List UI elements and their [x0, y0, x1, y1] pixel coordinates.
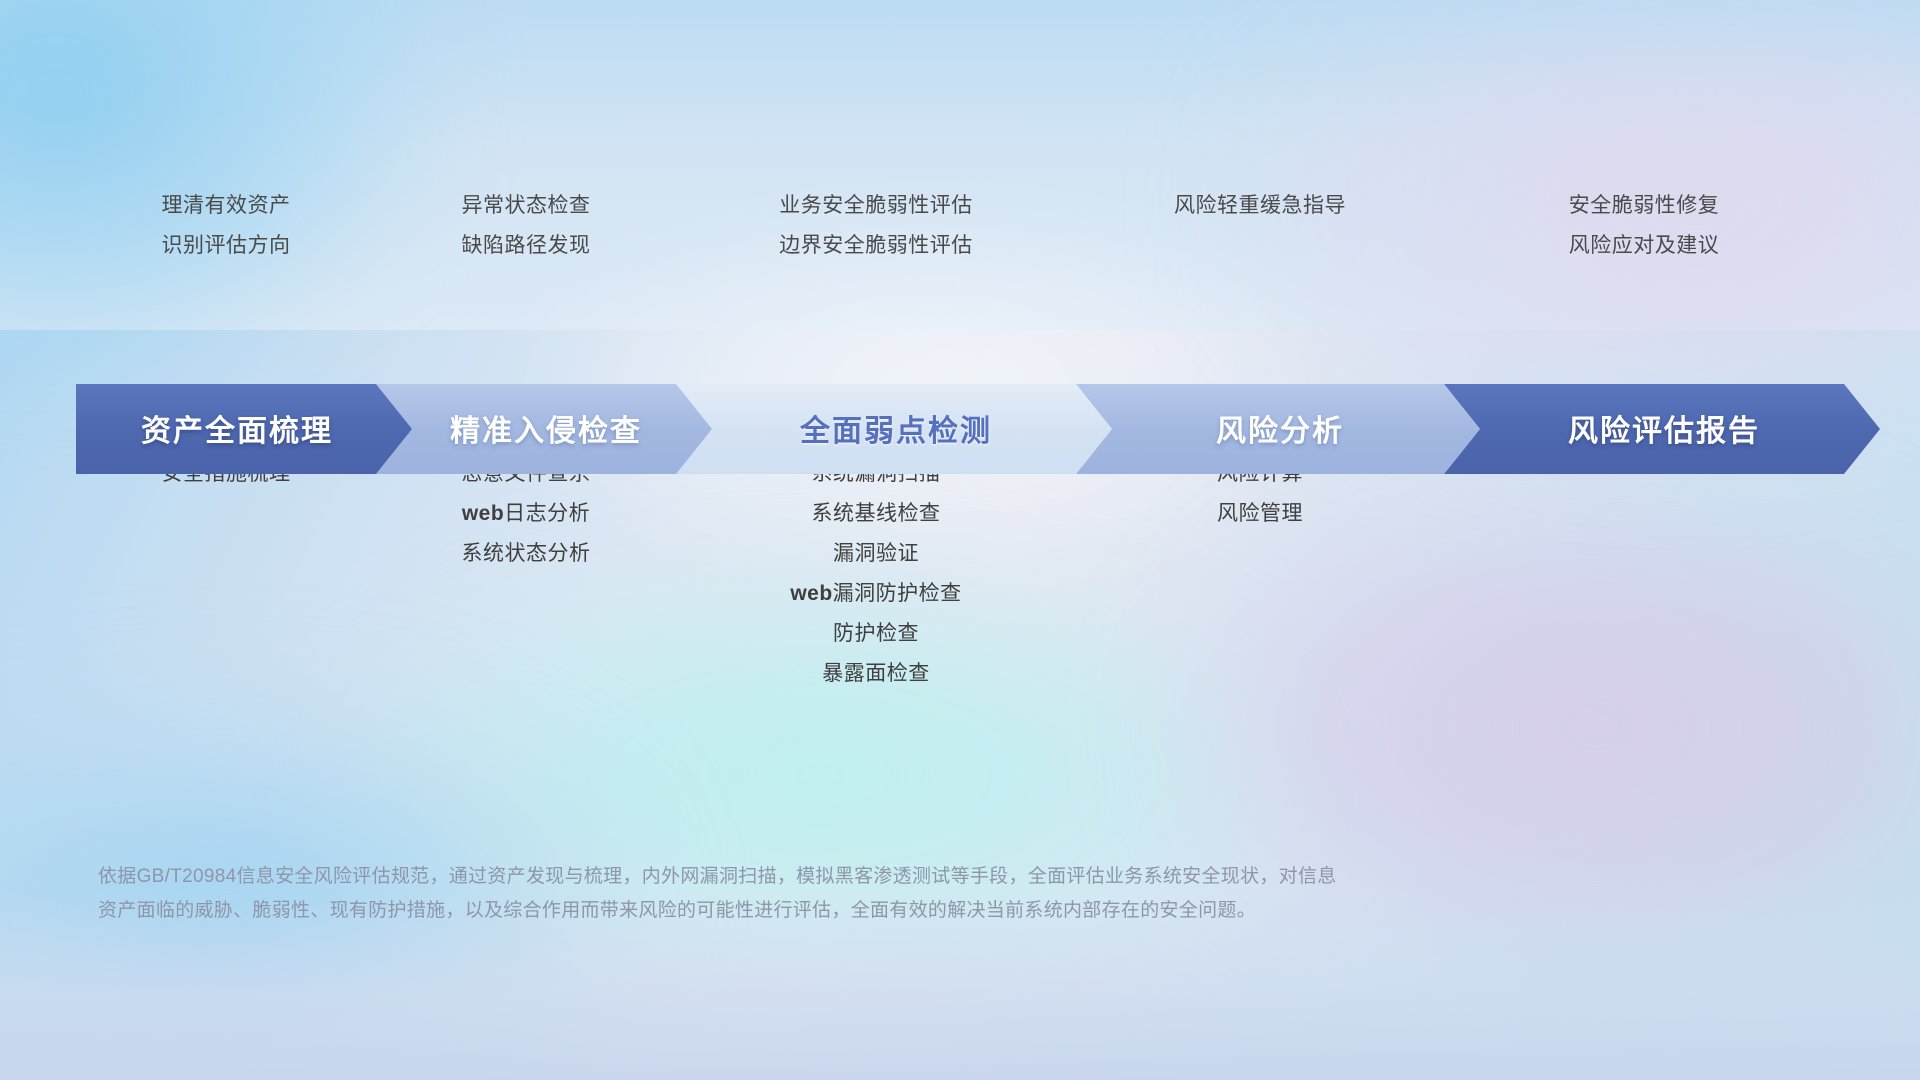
stage-bottom-item-cjk: 系统基线检查: [812, 502, 941, 525]
stage-top-item: 边界安全脆弱性评估: [676, 226, 1076, 266]
process-diagram: 理清有效资产识别评估方向异常状态检查缺陷路径发现业务安全脆弱性评估边界安全脆弱性…: [0, 0, 1920, 1080]
stage-chevron-assessment-report[interactable]: 风险评估报告: [1444, 384, 1880, 474]
stage-chevron-weakness-detection[interactable]: 全面弱点检测: [676, 384, 1112, 474]
stage-chevron-label: 精准入侵检查: [450, 406, 642, 450]
stage-bottom-item-cjk: 漏洞验证: [833, 542, 919, 565]
stage-column-assessment-report: 安全脆弱性修复风险应对及建议: [1444, 186, 1844, 266]
stage-bottom-item: 系统基线检查: [676, 494, 1076, 534]
stage-top-item: 识别评估方向: [76, 226, 376, 266]
footer-description: 依据GB/T20984信息安全风险评估规范，通过资产发现与梳理，内外网漏洞扫描，…: [98, 860, 1598, 928]
stage-chevron-intrusion-check[interactable]: 精准入侵检查: [376, 384, 712, 474]
stage-chevron-label: 风险评估报告: [1568, 406, 1760, 450]
stage-bottom-item: 防护检查: [676, 614, 1076, 654]
stage-column-asset-inventory: 理清有效资产识别评估方向: [76, 186, 376, 266]
stage-chevron-label: 全面弱点检测: [800, 406, 992, 450]
stage-bottom-item: 风险管理: [1076, 494, 1444, 534]
stage-bottom-item-cjk: 日志分析: [504, 502, 590, 525]
stage-top-item: 缺陷路径发现: [376, 226, 676, 266]
stage-bottom-item-latin: web: [462, 502, 504, 525]
stage-top-item: 业务安全脆弱性评估: [676, 186, 1076, 226]
stage-bottom-item: web漏洞防护检查: [676, 574, 1076, 614]
stage-bottom-item-latin: web: [790, 582, 832, 605]
stage-chevron-banner: 资产全面梳理精准入侵检查全面弱点检测风险分析风险评估报告: [76, 384, 1844, 474]
stage-chevron-label: 资产全面梳理: [141, 406, 333, 450]
stage-top-item: 理清有效资产: [76, 186, 376, 226]
stage-bottom-item-cjk: 系统状态分析: [462, 542, 591, 565]
stage-bottom-item-cjk: 漏洞防护检查: [833, 582, 962, 605]
stage-chevron-risk-analysis[interactable]: 风险分析: [1076, 384, 1480, 474]
stage-column-weakness-detection: 业务安全脆弱性评估边界安全脆弱性评估: [676, 186, 1076, 266]
top-caption-row: 理清有效资产识别评估方向异常状态检查缺陷路径发现业务安全脆弱性评估边界安全脆弱性…: [76, 186, 1844, 266]
stage-bottom-item-cjk: 风险管理: [1217, 502, 1303, 525]
stage-chevron-label: 风险分析: [1216, 406, 1344, 450]
stage-column-intrusion-check: 异常状态检查缺陷路径发现: [376, 186, 676, 266]
stage-column-risk-analysis: 风险轻重缓急指导: [1076, 186, 1444, 266]
stage-top-item: 异常状态检查: [376, 186, 676, 226]
stage-bottom-item-cjk: 暴露面检查: [822, 662, 930, 685]
stage-bottom-item: 漏洞验证: [676, 534, 1076, 574]
stage-top-item: 风险应对及建议: [1444, 226, 1844, 266]
stage-top-item: 安全脆弱性修复: [1444, 186, 1844, 226]
footer-line-1: 依据GB/T20984信息安全风险评估规范，通过资产发现与梳理，内外网漏洞扫描，…: [98, 860, 1598, 894]
footer-line-2: 资产面临的威胁、脆弱性、现有防护措施，以及综合作用而带来风险的可能性进行评估，全…: [98, 894, 1598, 928]
stage-chevron-asset-inventory[interactable]: 资产全面梳理: [76, 384, 412, 474]
stage-bottom-item: web日志分析: [376, 494, 676, 534]
stage-top-item: 风险轻重缓急指导: [1076, 186, 1444, 226]
stage-bottom-item: 暴露面检查: [676, 654, 1076, 694]
stage-bottom-item-cjk: 防护检查: [833, 622, 919, 645]
stage-bottom-item: 系统状态分析: [376, 534, 676, 574]
